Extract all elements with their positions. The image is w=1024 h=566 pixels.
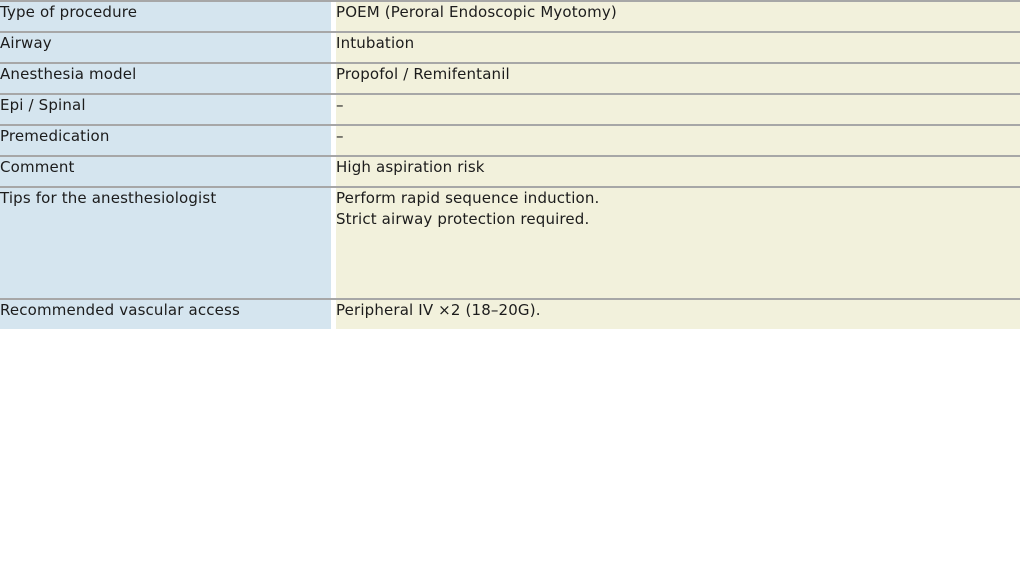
value-line: –	[336, 126, 1020, 147]
table-row: Epi / Spinal–	[0, 93, 1020, 124]
row-value-type-of-procedure: POEM (Peroral Endoscopic Myotomy)	[336, 0, 1020, 31]
row-label-recommended-vascular-access: Recommended vascular access	[0, 298, 331, 329]
value-line: POEM (Peroral Endoscopic Myotomy)	[336, 2, 1020, 23]
value-line: High aspiration risk	[336, 157, 1020, 178]
row-label-type-of-procedure: Type of procedure	[0, 0, 331, 31]
table-row: CommentHigh aspiration risk	[0, 155, 1020, 186]
row-value-tips-for-the-anesthesiologist: Perform rapid sequence induction.Strict …	[336, 186, 1020, 298]
row-value-epi-spinal: –	[336, 93, 1020, 124]
table-row: Premedication–	[0, 124, 1020, 155]
procedure-info-panel: Type of procedurePOEM (Peroral Endoscopi…	[0, 0, 1024, 566]
procedure-info-table: Type of procedurePOEM (Peroral Endoscopi…	[0, 0, 1020, 329]
value-line: Peripheral IV ×2 (18–20G).	[336, 300, 1020, 321]
row-value-anesthesia-model: Propofol / Remifentanil	[336, 62, 1020, 93]
row-label-airway: Airway	[0, 31, 331, 62]
value-line: Intubation	[336, 33, 1020, 54]
value-line: Strict airway protection required.	[336, 209, 1020, 230]
table-row: Anesthesia modelPropofol / Remifentanil	[0, 62, 1020, 93]
value-line: Propofol / Remifentanil	[336, 64, 1020, 85]
row-label-premedication: Premedication	[0, 124, 331, 155]
row-label-tips-for-the-anesthesiologist: Tips for the anesthesiologist	[0, 186, 331, 298]
value-line: Perform rapid sequence induction.	[336, 188, 1020, 209]
row-label-comment: Comment	[0, 155, 331, 186]
row-label-anesthesia-model: Anesthesia model	[0, 62, 331, 93]
table-row: Recommended vascular accessPeripheral IV…	[0, 298, 1020, 329]
row-value-recommended-vascular-access: Peripheral IV ×2 (18–20G).	[336, 298, 1020, 329]
row-value-comment: High aspiration risk	[336, 155, 1020, 186]
table-body: Type of procedurePOEM (Peroral Endoscopi…	[0, 0, 1020, 329]
table-row: AirwayIntubation	[0, 31, 1020, 62]
table-row: Type of procedurePOEM (Peroral Endoscopi…	[0, 0, 1020, 31]
value-line: –	[336, 95, 1020, 116]
table-row: Tips for the anesthesiologistPerform rap…	[0, 186, 1020, 298]
row-value-premedication: –	[336, 124, 1020, 155]
row-value-airway: Intubation	[336, 31, 1020, 62]
row-label-epi-spinal: Epi / Spinal	[0, 93, 331, 124]
